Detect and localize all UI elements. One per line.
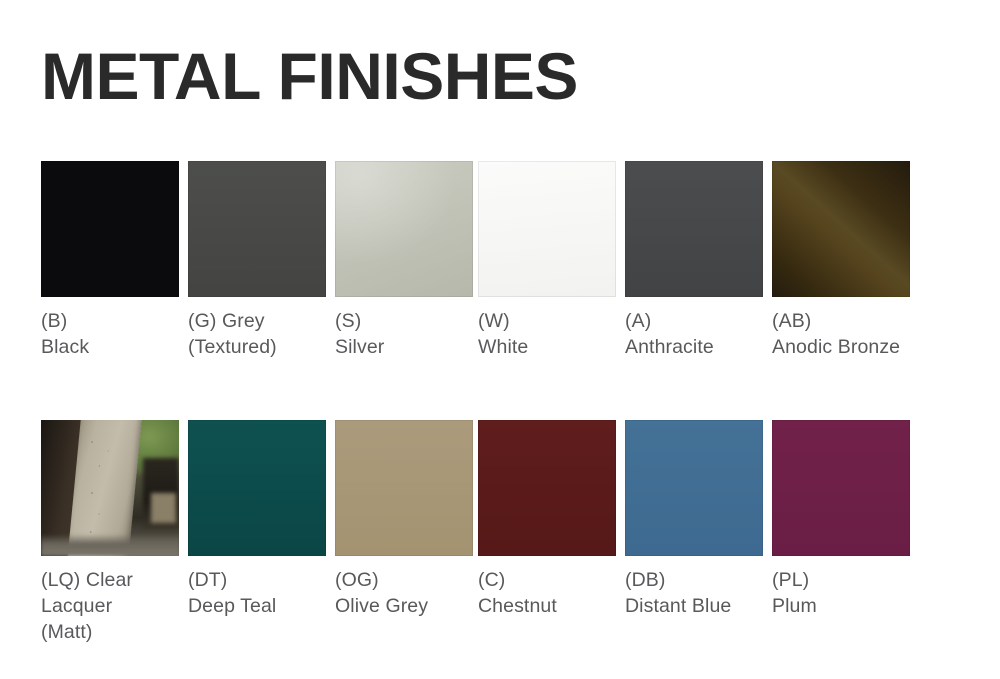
swatch-color-deep-teal[interactable]: [188, 420, 326, 556]
swatch-label-anthracite: (A) Anthracite: [625, 308, 763, 360]
swatch-label-silver: (S) Silver: [335, 308, 473, 360]
swatch-row-2: (LQ) Clear Lacquer (Matt) (DT) Deep Teal…: [41, 420, 961, 679]
lacquer-photo-right-box: [151, 493, 176, 523]
swatch-color-olive-grey[interactable]: [335, 420, 473, 556]
swatch-color-black[interactable]: [41, 161, 179, 297]
swatch-color-white[interactable]: [478, 161, 616, 297]
swatch-photo-clear-lacquer[interactable]: [41, 420, 179, 556]
swatch-cell-chestnut[interactable]: (C) Chestnut: [478, 420, 616, 619]
swatch-cell-silver[interactable]: (S) Silver: [335, 161, 473, 360]
swatch-color-anodic-bronze[interactable]: [772, 161, 910, 297]
swatch-color-plum[interactable]: [772, 420, 910, 556]
swatch-cell-anodic-bronze[interactable]: (AB) Anodic Bronze: [772, 161, 910, 360]
swatch-cell-deep-teal[interactable]: (DT) Deep Teal: [188, 420, 326, 619]
swatch-label-black: (B) Black: [41, 308, 179, 360]
swatch-label-olive-grey: (OG) Olive Grey: [335, 567, 473, 619]
swatch-cell-grey[interactable]: (G) Grey (Textured): [188, 161, 326, 360]
swatch-cell-black[interactable]: (B) Black: [41, 161, 179, 360]
swatch-label-white: (W) White: [478, 308, 616, 360]
page-title: METAL FINISHES: [41, 40, 578, 112]
swatch-color-grey[interactable]: [188, 161, 326, 297]
swatch-label-distant-blue: (DB) Distant Blue: [625, 567, 763, 619]
swatch-cell-white[interactable]: (W) White: [478, 161, 616, 360]
swatch-label-grey: (G) Grey (Textured): [188, 308, 326, 360]
swatch-label-anodic-bronze: (AB) Anodic Bronze: [772, 308, 910, 360]
swatch-color-anthracite[interactable]: [625, 161, 763, 297]
swatch-color-distant-blue[interactable]: [625, 420, 763, 556]
swatch-cell-olive-grey[interactable]: (OG) Olive Grey: [335, 420, 473, 619]
swatch-cell-clear-lacquer[interactable]: (LQ) Clear Lacquer (Matt): [41, 420, 179, 645]
metal-finishes-chart: METAL FINISHES (B) Black (G) Grey (Textu…: [0, 0, 1000, 672]
swatch-label-chestnut: (C) Chestnut: [478, 567, 616, 619]
swatch-cell-anthracite[interactable]: (A) Anthracite: [625, 161, 763, 360]
swatch-row-1: (B) Black (G) Grey (Textured) (S) Silver…: [41, 161, 961, 420]
swatch-label-plum: (PL) Plum: [772, 567, 910, 619]
swatch-label-clear-lacquer: (LQ) Clear Lacquer (Matt): [41, 567, 179, 645]
swatch-grid: (B) Black (G) Grey (Textured) (S) Silver…: [41, 161, 961, 679]
swatch-cell-distant-blue[interactable]: (DB) Distant Blue: [625, 420, 763, 619]
swatch-label-deep-teal: (DT) Deep Teal: [188, 567, 326, 619]
lacquer-photo-floor: [41, 534, 179, 556]
swatch-color-chestnut[interactable]: [478, 420, 616, 556]
swatch-color-silver[interactable]: [335, 161, 473, 297]
swatch-cell-plum[interactable]: (PL) Plum: [772, 420, 910, 619]
